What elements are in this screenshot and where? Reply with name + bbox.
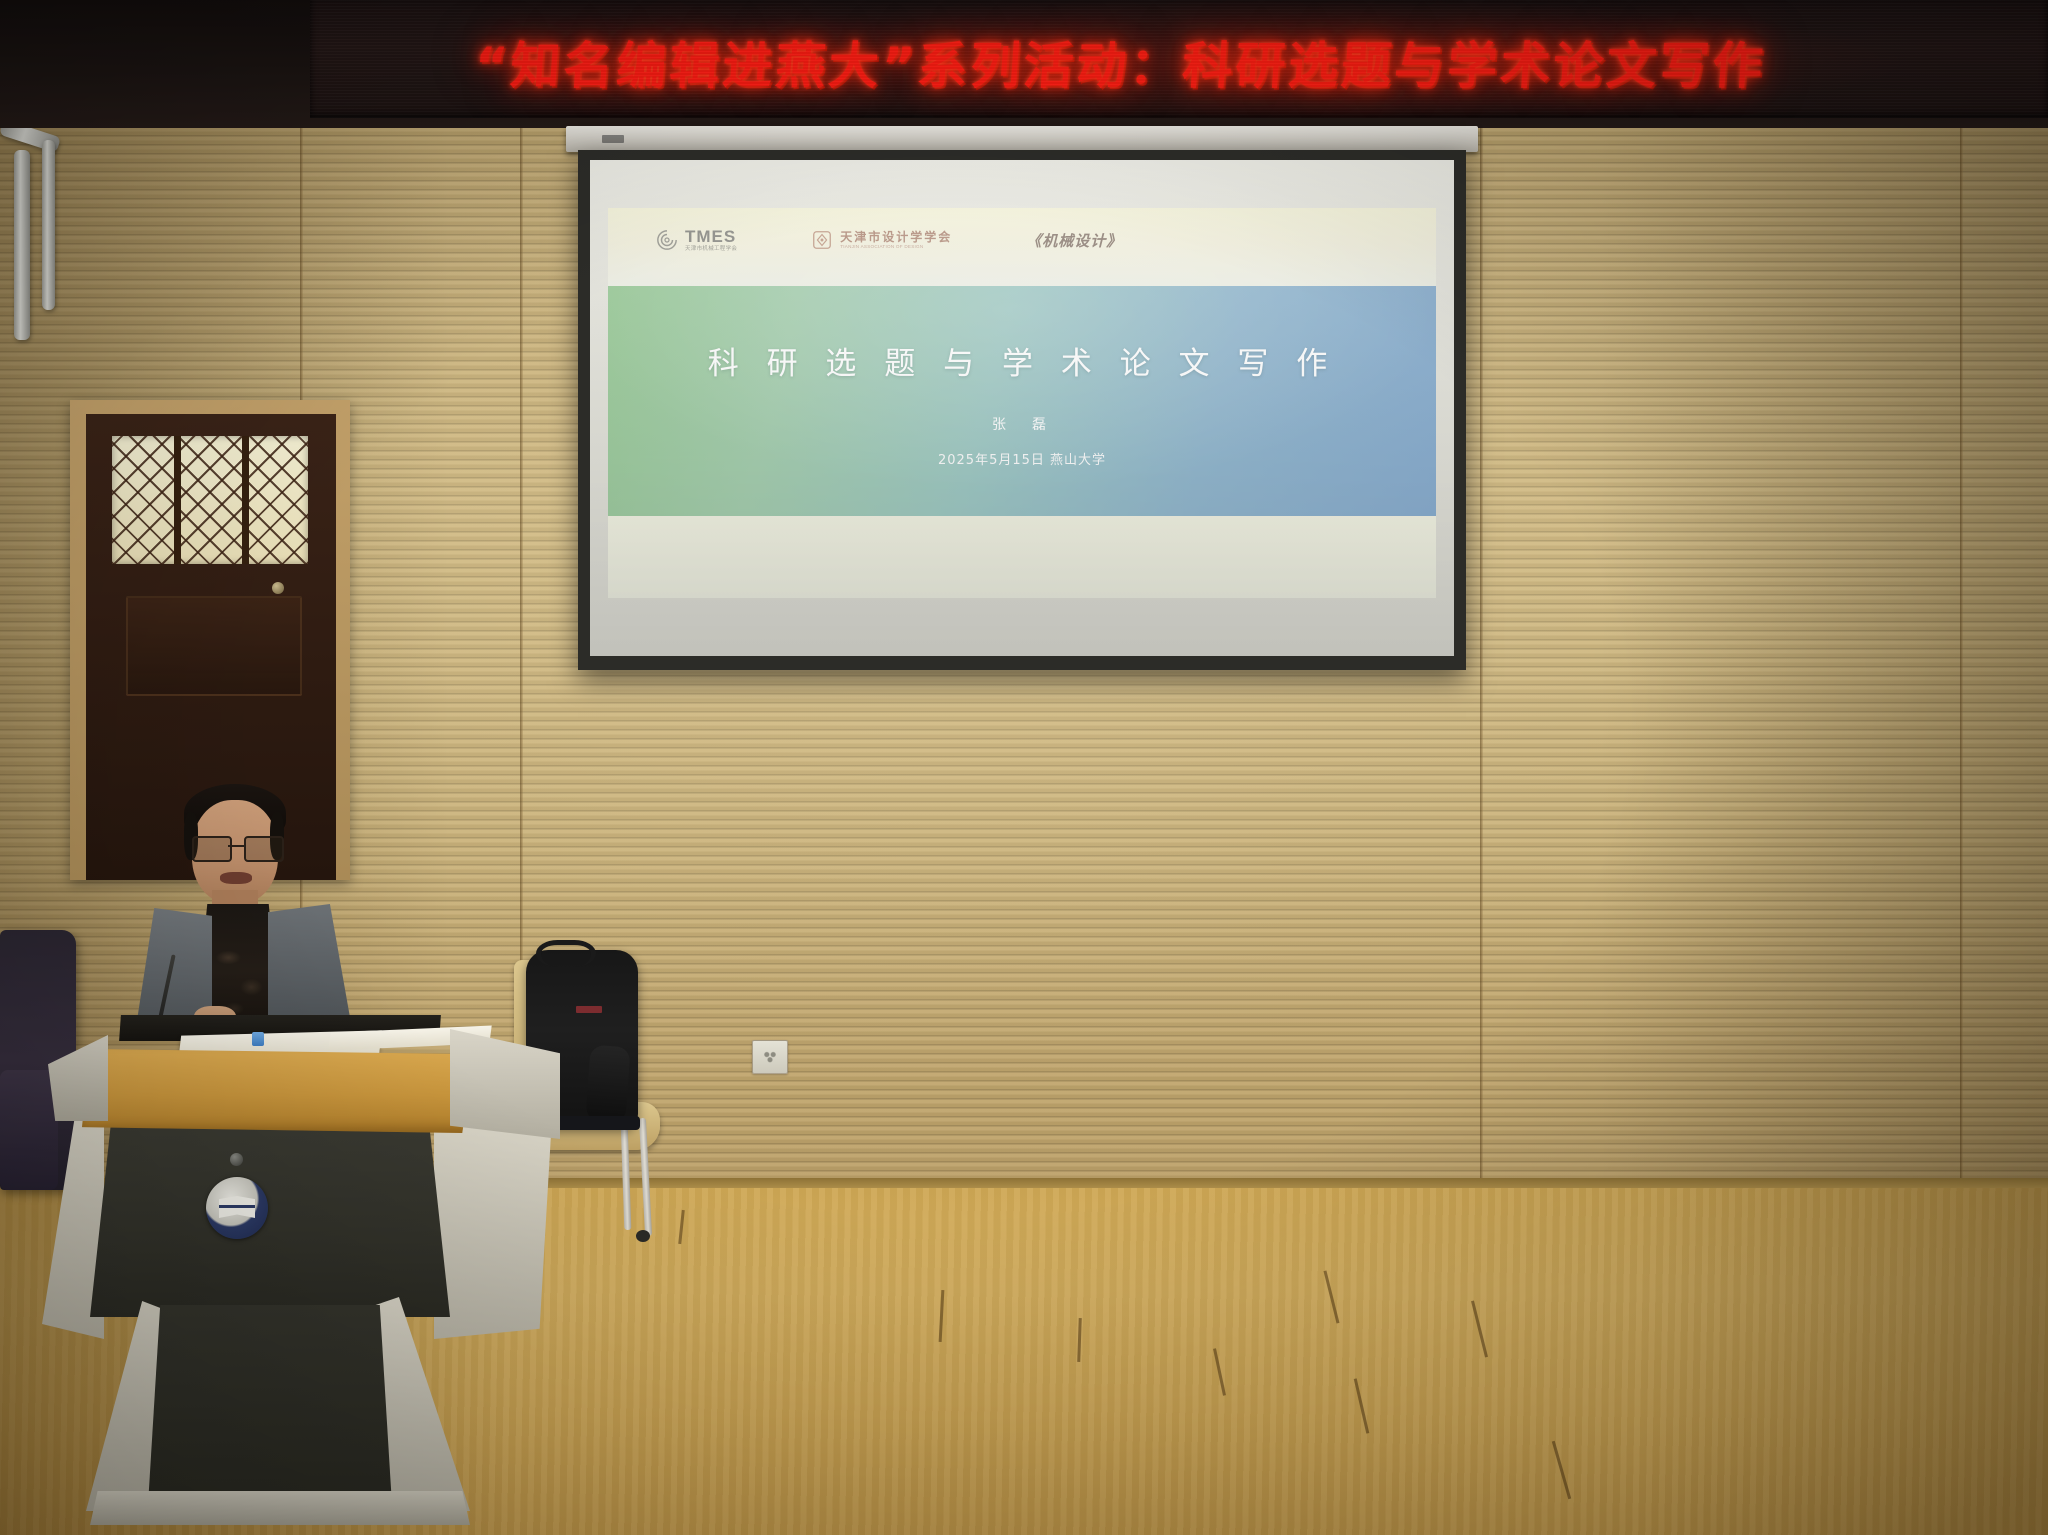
lectern-lip-left: [48, 1035, 108, 1121]
slide-presenter-name: 张 磊: [608, 414, 1436, 434]
university-emblem: [206, 1177, 268, 1239]
tjad-name-en: TIANJIN ASSOCIATION OF DESIGN: [840, 245, 952, 250]
led-banner-board: “知名编辑进燕大”系列活动：科研选题与学术论文写作: [310, 0, 2048, 118]
presenter: [128, 778, 358, 1038]
slide-header-band: TMES 天津市机械工程学会 天津市设计学学会: [608, 208, 1436, 286]
led-banner-text: “知名编辑进燕大”系列活动：科研选题与学术论文写作: [472, 26, 2037, 98]
door-panel: [126, 596, 302, 696]
glasses-lens-left: [192, 836, 232, 862]
tmes-text-block: TMES 天津市机械工程学会: [685, 228, 737, 253]
glasses-icon: [190, 836, 282, 858]
screen-surface: TMES 天津市机械工程学会 天津市设计学学会: [590, 160, 1454, 656]
logo-tmes: TMES 天津市机械工程学会: [656, 228, 737, 253]
housing-brand-logo: [602, 135, 624, 143]
slide-footer-band: [608, 516, 1436, 598]
backpack-logo: [576, 1006, 602, 1013]
ceiling-pipe-vertical: [14, 150, 30, 340]
tjad-diamond-icon: [811, 229, 833, 251]
backpack-handle: [536, 940, 596, 967]
backpack-strap: [585, 1045, 630, 1124]
journal-title: 《机械设计》: [1026, 230, 1122, 251]
wall-power-socket[interactable]: [752, 1040, 788, 1074]
lectern-base: [90, 1491, 470, 1525]
glasses-lens-right: [244, 836, 284, 862]
lectern-screw: [230, 1153, 243, 1166]
slide-gradient-band: 科 研 选 题 与 学 术 论 文 写 作 张 磊 2025年5月15日 燕山大…: [608, 286, 1436, 516]
door-lattice-window: [112, 436, 308, 564]
ceiling-pipe-vertical-2: [42, 140, 55, 310]
glasses-bridge: [228, 845, 244, 847]
binder-clip: [252, 1032, 264, 1046]
slide-date-venue: 2025年5月15日 燕山大学: [608, 449, 1436, 468]
tmes-full-name: 天津市机械工程学会: [685, 247, 737, 253]
tmes-spiral-icon: [656, 229, 678, 251]
tjad-name-cn: 天津市设计学学会: [840, 231, 952, 243]
wall-panel-seam: [1960, 0, 1963, 1190]
lectern-desktop: [82, 1049, 474, 1133]
projector-screen-housing: [566, 126, 1478, 152]
chair-foot: [636, 1230, 650, 1242]
lectern-body: [90, 1117, 450, 1317]
logo-journal: 《机械设计》: [1026, 230, 1122, 251]
tjad-text-block: 天津市设计学学会 TIANJIN ASSOCIATION OF DESIGN: [840, 231, 952, 250]
slide-logo-row: TMES 天津市机械工程学会 天津市设计学学会: [656, 228, 1122, 253]
projected-slide: TMES 天津市机械工程学会 天津市设计学学会: [608, 208, 1436, 598]
lattice-grille: [112, 436, 308, 564]
logo-tjad: 天津市设计学学会 TIANJIN ASSOCIATION OF DESIGN: [811, 229, 952, 251]
wall-panel-seam: [1480, 0, 1483, 1190]
window-mullion: [174, 436, 181, 564]
slide-title: 科 研 选 题 与 学 术 论 文 写 作: [608, 338, 1436, 383]
projection-screen: TMES 天津市机械工程学会 天津市设计学学会: [578, 150, 1466, 670]
door-knob[interactable]: [272, 582, 284, 594]
presenter-mouth: [220, 872, 252, 884]
lecture-hall-scene: “知名编辑进燕大”系列活动：科研选题与学术论文写作: [0, 0, 2048, 1535]
lectern-pedestal: [148, 1305, 392, 1505]
lectern: [30, 1005, 550, 1535]
window-mullion: [242, 436, 249, 564]
tmes-acronym: TMES: [685, 228, 737, 245]
lectern-lip-right: [450, 1029, 560, 1139]
